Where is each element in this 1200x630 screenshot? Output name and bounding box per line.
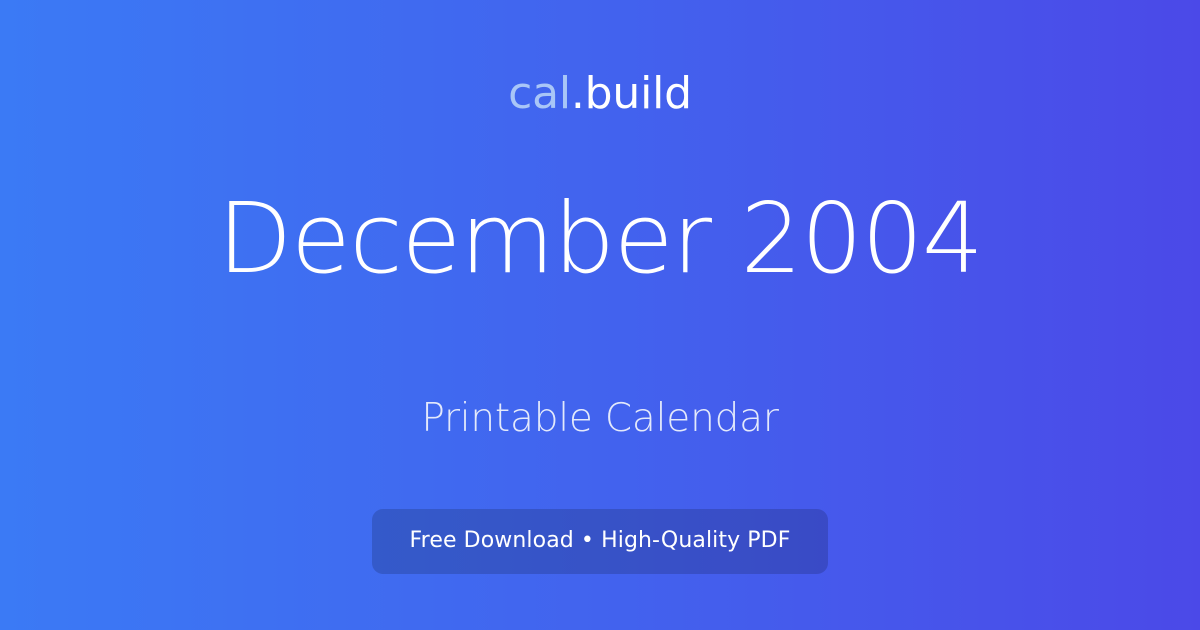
download-badge-label: Free Download • High-Quality PDF bbox=[410, 530, 791, 552]
brand-name-suffix: .build bbox=[571, 68, 692, 119]
page-subtitle: Printable Calendar bbox=[421, 399, 778, 438]
brand-name-primary: cal bbox=[508, 68, 571, 119]
download-badge: Free Download • High-Quality PDF bbox=[372, 509, 829, 574]
og-share-card: cal.build December 2004 Printable Calend… bbox=[0, 0, 1200, 630]
page-title: December 2004 bbox=[217, 190, 982, 287]
brand-logo: cal.build bbox=[508, 72, 692, 116]
